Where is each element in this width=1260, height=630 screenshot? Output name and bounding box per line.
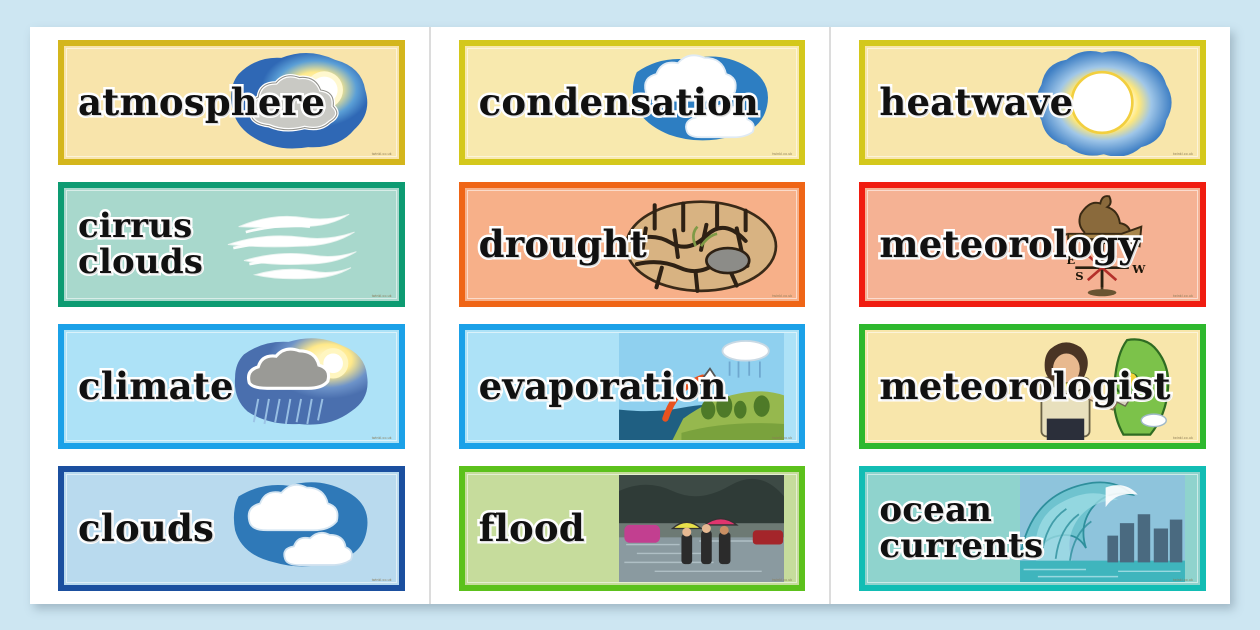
word-card-ocean-currents[interactable]: ocean currentstwinkl.co.uk xyxy=(859,466,1206,591)
word-card-clouds[interactable]: cloudstwinkl.co.uk xyxy=(58,466,405,591)
credit-text: twinkl.co.uk xyxy=(1173,436,1193,440)
word-card-evaporation[interactable]: evaporationtwinkl.co.uk xyxy=(459,324,806,449)
page-column-2: condensationtwinkl.co.uk droughttwinkl.c… xyxy=(429,27,830,604)
word-label: heatwave xyxy=(865,83,1073,121)
credit-text: twinkl.co.uk xyxy=(772,436,792,440)
word-label: climate xyxy=(64,367,234,405)
credit-text: twinkl.co.uk xyxy=(372,436,392,440)
cirrus-clouds-icon xyxy=(209,191,394,298)
credit-text: twinkl.co.uk xyxy=(372,578,392,582)
card-stack: condensationtwinkl.co.uk droughttwinkl.c… xyxy=(431,40,830,604)
word-card-condensation[interactable]: condensationtwinkl.co.uk xyxy=(459,40,806,165)
word-card-cirrus-clouds[interactable]: cirrus cloudstwinkl.co.uk xyxy=(58,182,405,307)
word-label: condensation xyxy=(465,83,759,121)
credit-text: twinkl.co.uk xyxy=(1173,294,1193,298)
printable-word-card-sheet: atmospheretwinkl.co.uk cirrus cloudstwin… xyxy=(30,27,1230,604)
credit-text: twinkl.co.uk xyxy=(372,152,392,156)
word-label: meteorology xyxy=(865,225,1139,263)
page-column-3: heatwavetwinkl.co.uk EW NS meteorologytw… xyxy=(829,27,1230,604)
word-label: ocean currents xyxy=(865,493,1043,564)
word-label: cirrus clouds xyxy=(64,209,203,280)
credit-text: twinkl.co.uk xyxy=(772,152,792,156)
svg-text:S: S xyxy=(1075,269,1083,283)
credit-text: twinkl.co.uk xyxy=(1173,152,1193,156)
word-label: atmosphere xyxy=(64,83,325,121)
card-stack: heatwavetwinkl.co.uk EW NS meteorologytw… xyxy=(831,40,1230,604)
credit-text: twinkl.co.uk xyxy=(772,294,792,298)
word-card-flood[interactable]: floodtwinkl.co.uk xyxy=(459,466,806,591)
word-card-atmosphere[interactable]: atmospheretwinkl.co.uk xyxy=(58,40,405,165)
word-card-meteorologist[interactable]: meteorologisttwinkl.co.uk xyxy=(859,324,1206,449)
rain-cloud-sun-icon xyxy=(209,333,394,440)
word-label: clouds xyxy=(64,509,214,547)
cumulus-clouds-icon xyxy=(209,475,394,582)
word-label: meteorologist xyxy=(865,367,1170,405)
word-card-heatwave[interactable]: heatwavetwinkl.co.uk xyxy=(859,40,1206,165)
word-label: drought xyxy=(465,225,647,263)
credit-text: twinkl.co.uk xyxy=(372,294,392,298)
word-label: evaporation xyxy=(465,367,727,405)
credit-text: twinkl.co.uk xyxy=(1173,578,1193,582)
word-card-meteorology[interactable]: EW NS meteorologytwinkl.co.uk xyxy=(859,182,1206,307)
word-card-climate[interactable]: climatetwinkl.co.uk xyxy=(58,324,405,449)
credit-text: twinkl.co.uk xyxy=(772,578,792,582)
word-card-drought[interactable]: droughttwinkl.co.uk xyxy=(459,182,806,307)
page-column-1: atmospheretwinkl.co.uk cirrus cloudstwin… xyxy=(30,27,429,604)
card-stack: atmospheretwinkl.co.uk cirrus cloudstwin… xyxy=(30,40,429,604)
flooded-street-people-icon xyxy=(609,475,794,582)
word-label: flood xyxy=(465,509,585,547)
